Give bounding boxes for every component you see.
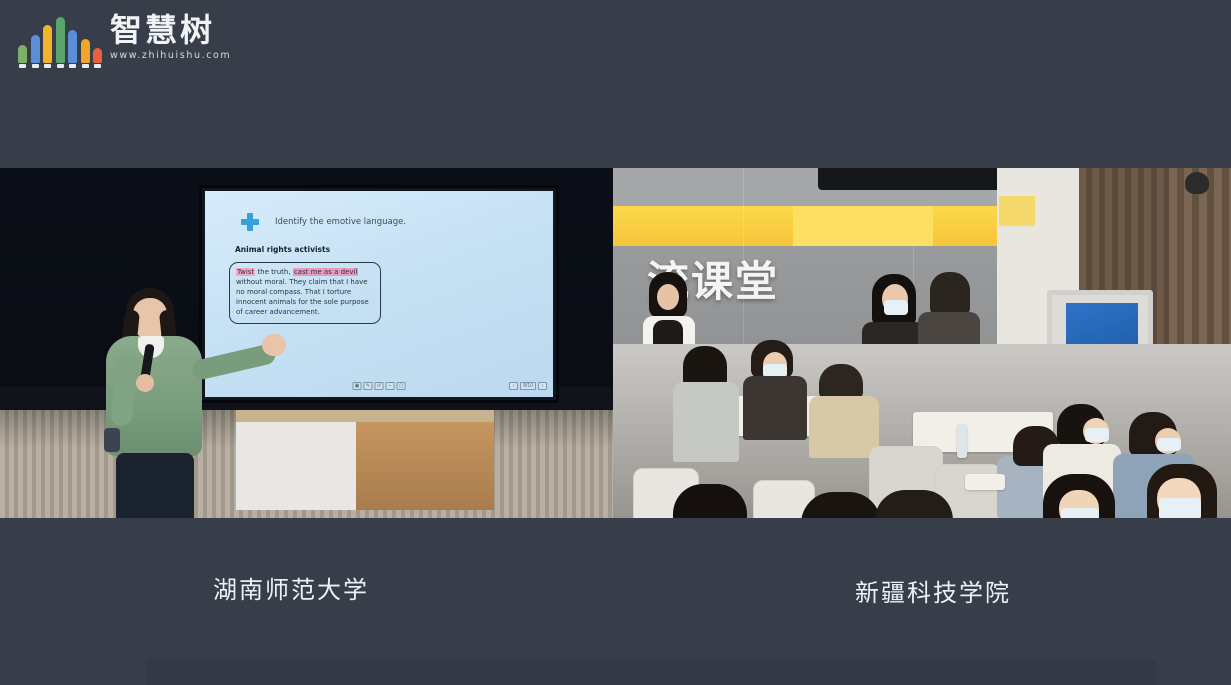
lecturer-mic-hand xyxy=(136,374,154,392)
bottom-panel xyxy=(146,660,1156,685)
person-face xyxy=(657,284,679,310)
prev-icon[interactable]: ‹ xyxy=(509,382,518,390)
equalizer-bars-logo-icon xyxy=(18,17,102,63)
person-top xyxy=(673,382,739,462)
slide-header-row: Identify the emotive language. xyxy=(241,213,541,231)
face-mask xyxy=(1061,508,1099,518)
student-foreground-3 xyxy=(875,472,965,518)
slide-nav[interactable]: ‹ 8/10 › xyxy=(509,382,547,390)
undo-icon[interactable]: ↺ xyxy=(375,382,384,390)
classroom-video-pane[interactable]: 流课堂 xyxy=(613,168,1231,518)
student-foreground-5 xyxy=(1147,456,1231,518)
page-indicator: 8/10 xyxy=(520,382,536,390)
frame-icon[interactable]: ▢ xyxy=(397,382,406,390)
dual-video-strip: Identify the emotive language. Animal ri… xyxy=(0,168,1231,518)
person-hair xyxy=(875,490,953,518)
student-foreground-1 xyxy=(673,468,759,518)
slide-header-text: Identify the emotive language. xyxy=(275,217,406,227)
brand-name-cn: 智慧树 xyxy=(110,14,231,48)
face-mask xyxy=(1159,498,1201,518)
student-seated-1 xyxy=(671,346,741,476)
slide-highlight-2: cast me as a devil xyxy=(293,268,359,276)
lecturer-trousers xyxy=(116,453,194,518)
ceiling-camera-icon xyxy=(1185,172,1209,194)
student-seated-2 xyxy=(741,340,811,440)
podium-front-panel xyxy=(236,422,356,510)
brand-logo: 智慧树 www.zhihuishu.com xyxy=(18,14,231,63)
person-top xyxy=(743,376,807,440)
person-top xyxy=(809,396,879,458)
lecturer-video-pane[interactable]: Identify the emotive language. Animal ri… xyxy=(0,168,613,518)
brand-url: www.zhihuishu.com xyxy=(110,50,231,61)
person-hair xyxy=(930,272,970,316)
pen-icon[interactable]: ✎ xyxy=(364,382,373,390)
face-mask xyxy=(884,300,908,315)
next-icon[interactable]: › xyxy=(538,382,547,390)
person-hair xyxy=(801,492,881,518)
person-hair xyxy=(819,364,863,400)
brand-text: 智慧树 www.zhihuishu.com xyxy=(110,14,231,63)
student-seated-3 xyxy=(809,364,881,460)
caption-right-university: 新疆科技学院 xyxy=(855,573,1011,608)
bottle xyxy=(957,424,967,458)
minus-icon[interactable]: – xyxy=(386,382,395,390)
face-mask xyxy=(1157,438,1181,451)
plus-icon xyxy=(241,213,259,231)
app-root: 智慧树 www.zhihuishu.com Identify the emoti… xyxy=(0,0,1231,685)
paper-on-table xyxy=(965,474,1005,490)
wall-yellow-accent xyxy=(999,196,1035,226)
lecturer-pointing-hand xyxy=(262,334,286,356)
wall-yellow-band-light xyxy=(793,206,933,246)
slide-highlight-1: Twist xyxy=(236,268,255,276)
student-foreground-4 xyxy=(1043,464,1139,518)
caption-left-university: 湖南师范大学 xyxy=(213,570,369,605)
person-hair xyxy=(673,484,747,518)
slide-toolbar[interactable]: ▣ ✎ ↺ – ▢ xyxy=(353,382,406,390)
classroom-scene: 流课堂 xyxy=(613,168,1231,518)
face-mask xyxy=(1085,428,1109,442)
lecturer-belt-pack xyxy=(104,428,120,452)
podium-top xyxy=(236,410,494,422)
slide-text-1: the truth, xyxy=(255,268,293,276)
pointer-icon[interactable]: ▣ xyxy=(353,382,362,390)
slide-subheader: Animal rights activists xyxy=(235,245,541,254)
